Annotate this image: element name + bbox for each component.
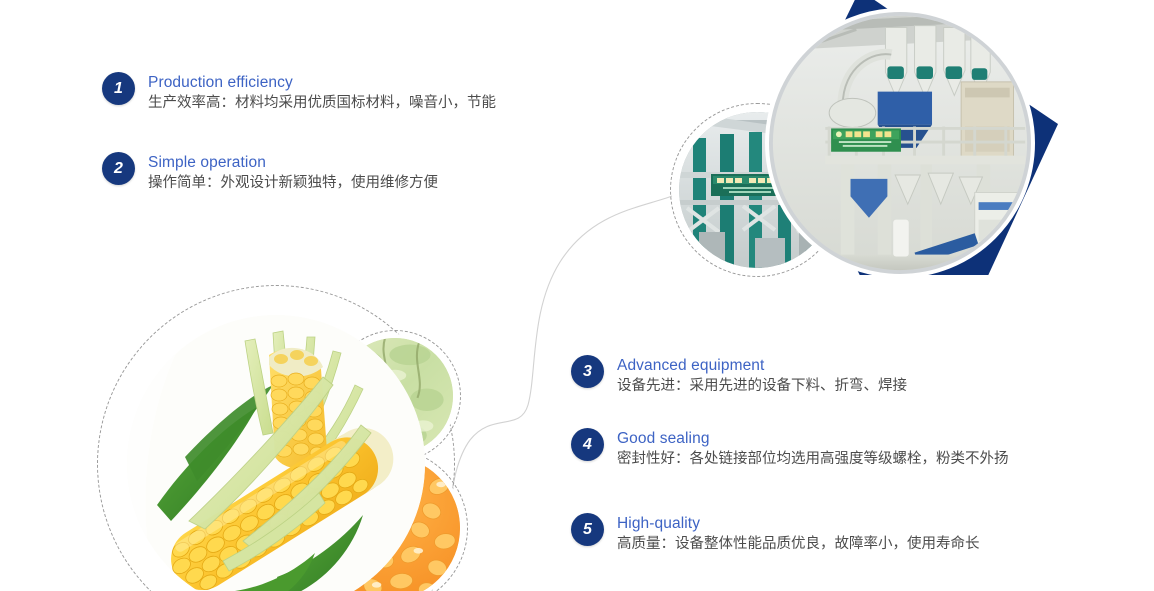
infographic-canvas: 1 Production efficiency 生产效率高：材料均采用优质国标材…	[0, 0, 1154, 591]
feature-item-3[interactable]: 3 Advanced equipment 设备先进：采用先进的设备下料、折弯、焊…	[571, 355, 907, 397]
feature-desc-4: 密封性好：各处链接部位均选用高强度等级螺栓，粉类不外扬	[617, 449, 1009, 470]
feature-badge-1: 1	[102, 72, 135, 105]
feature-title-2: Simple operation	[148, 153, 438, 172]
feature-text-4: Good sealing 密封性好：各处链接部位均选用高强度等级螺栓，粉类不外扬	[617, 428, 1009, 470]
feature-badge-3: 3	[571, 355, 604, 388]
feature-badge-4: 4	[571, 428, 604, 461]
feature-text-1: Production efficiency 生产效率高：材料均采用优质国标材料，…	[148, 72, 496, 114]
feature-text-5: High-quality 高质量：设备整体性能品质优良，故障率小，使用寿命长	[617, 513, 980, 555]
feature-text-3: Advanced equipment 设备先进：采用先进的设备下料、折弯、焊接	[617, 355, 907, 397]
feature-desc-1: 生产效率高：材料均采用优质国标材料，噪音小，节能	[148, 93, 496, 114]
feature-desc-2: 操作简单：外观设计新颖独特，使用维修方便	[148, 173, 438, 194]
feature-item-1[interactable]: 1 Production efficiency 生产效率高：材料均采用优质国标材…	[102, 72, 496, 114]
feature-desc-5: 高质量：设备整体性能品质优良，故障率小，使用寿命长	[617, 534, 980, 555]
feature-item-2[interactable]: 2 Simple operation 操作简单：外观设计新颖独特，使用维修方便	[102, 152, 438, 194]
feature-desc-3: 设备先进：采用先进的设备下料、折弯、焊接	[617, 376, 907, 397]
feature-text-2: Simple operation 操作简单：外观设计新颖独特，使用维修方便	[148, 152, 438, 194]
feature-title-3: Advanced equipment	[617, 356, 907, 375]
feature-title-5: High-quality	[617, 514, 980, 533]
feature-badge-2: 2	[102, 152, 135, 185]
feature-title-4: Good sealing	[617, 429, 1009, 448]
factory-main-photo	[765, 8, 1035, 278]
feature-badge-5: 5	[571, 513, 604, 546]
feature-title-1: Production efficiency	[148, 73, 496, 92]
feature-item-4[interactable]: 4 Good sealing 密封性好：各处链接部位均选用高强度等级螺栓，粉类不…	[571, 428, 1009, 470]
feature-item-5[interactable]: 5 High-quality 高质量：设备整体性能品质优良，故障率小，使用寿命长	[571, 513, 980, 555]
